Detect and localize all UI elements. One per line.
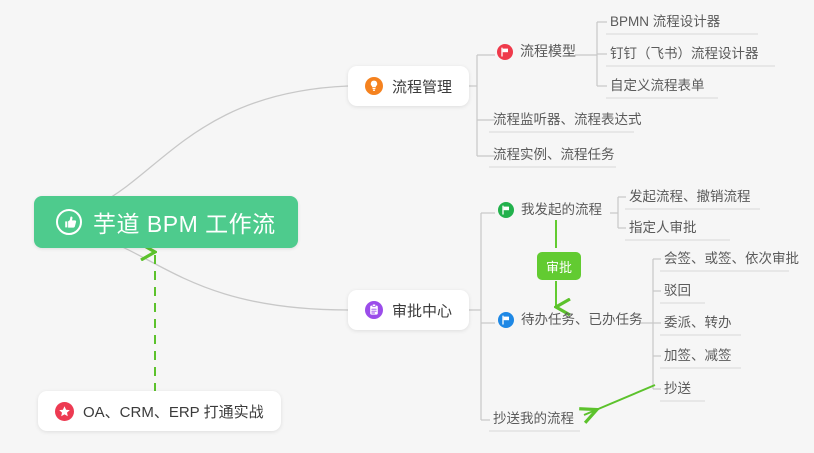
node-label-cc: 抄送 (664, 380, 691, 397)
node-start-cancel-process[interactable]: 发起流程、撤销流程 (623, 185, 757, 210)
root-label: 芋道 BPM 工作流 (93, 205, 276, 239)
node-cc[interactable]: 抄送 (658, 377, 697, 402)
node-reject[interactable]: 驳回 (658, 279, 697, 304)
node-delegate-transfer[interactable]: 委派、转办 (658, 311, 738, 336)
mindmap-canvas: 芋道 BPM 工作流 流程管理 流程模型 BPMN 流程设计器 钉钉（飞书）流程 (0, 0, 814, 453)
node-label-process-instance-task: 流程实例、流程任务 (493, 146, 615, 163)
root-node[interactable]: 芋道 BPM 工作流 (34, 196, 298, 248)
footnote-node-integration[interactable]: OA、CRM、ERP 打通实战 (38, 391, 281, 431)
node-label-process-listener-expression: 流程监听器、流程表达式 (493, 111, 642, 128)
node-label-assignee-approval: 指定人审批 (629, 219, 697, 236)
node-bpmn-designer[interactable]: BPMN 流程设计器 (604, 10, 726, 35)
flag-icon (497, 44, 513, 60)
node-label-bpmn-designer: BPMN 流程设计器 (610, 13, 720, 30)
node-process-listener-expression[interactable]: 流程监听器、流程表达式 (487, 108, 648, 133)
node-label-dingtalk-feishu-designer: 钉钉（飞书）流程设计器 (610, 45, 759, 62)
node-label-reject: 驳回 (664, 282, 691, 299)
node-label-process-model: 流程模型 (520, 43, 576, 60)
branch-label-approval-center: 审批中心 (392, 300, 452, 321)
node-label-add-remove-sign: 加签、减签 (664, 347, 732, 364)
branch-node-process-management[interactable]: 流程管理 (348, 66, 469, 106)
node-label-my-started-process: 我发起的流程 (521, 201, 602, 218)
node-process-model[interactable]: 流程模型 (491, 40, 582, 65)
node-countersign[interactable]: 会签、或签、依次审批 (658, 247, 805, 272)
footnote-label: OA、CRM、ERP 打通实战 (83, 401, 264, 422)
node-dingtalk-feishu-designer[interactable]: 钉钉（飞书）流程设计器 (604, 42, 765, 67)
node-todo-done-task[interactable]: 待办任务、已办任务 (492, 308, 649, 333)
node-label-todo-done-task: 待办任务、已办任务 (521, 311, 643, 328)
node-cc-to-me-process[interactable]: 抄送我的流程 (487, 407, 580, 432)
thumbs-up-icon (56, 209, 82, 235)
node-label-delegate-transfer: 委派、转办 (664, 314, 732, 331)
node-label-custom-process-form: 自定义流程表单 (610, 77, 705, 94)
node-assignee-approval[interactable]: 指定人审批 (623, 216, 703, 241)
branch-label-process-management: 流程管理 (392, 76, 452, 97)
star-icon (55, 402, 74, 421)
approval-tag-label: 审批 (546, 257, 572, 276)
flag-icon (498, 202, 514, 218)
node-label-cc-to-me-process: 抄送我的流程 (493, 410, 574, 427)
branch-node-approval-center[interactable]: 审批中心 (348, 290, 469, 330)
node-add-remove-sign[interactable]: 加签、减签 (658, 344, 738, 369)
node-custom-process-form[interactable]: 自定义流程表单 (604, 74, 711, 99)
node-label-countersign: 会签、或签、依次审批 (664, 250, 799, 267)
flag-icon (498, 312, 514, 328)
node-process-instance-task[interactable]: 流程实例、流程任务 (487, 143, 621, 168)
clipboard-icon (365, 301, 383, 319)
node-my-started-process[interactable]: 我发起的流程 (492, 198, 608, 223)
node-label-start-cancel-process: 发起流程、撤销流程 (629, 188, 751, 205)
lightbulb-icon (365, 77, 383, 95)
approval-tag[interactable]: 审批 (537, 252, 581, 280)
